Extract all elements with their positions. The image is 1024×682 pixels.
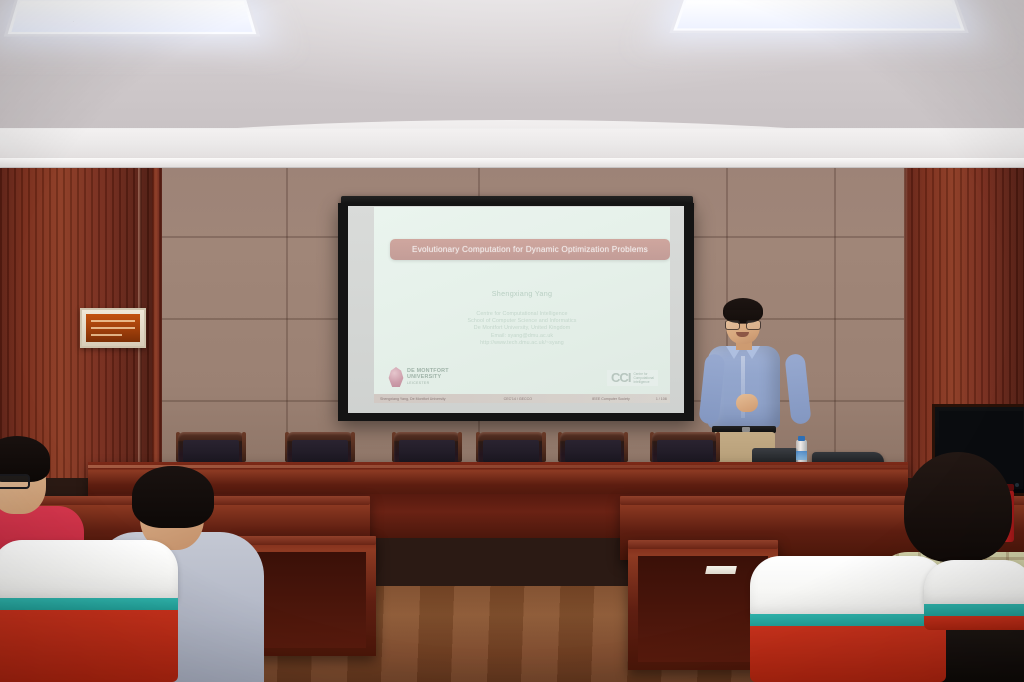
document-sheet [705, 566, 737, 574]
slide-author: Shengxiang Yang [374, 289, 670, 298]
slide-affiliation-email: Email: syang@dmu.ac.uk [374, 333, 670, 340]
wall-sign-plaque [80, 308, 146, 348]
chair-cover-far-right [924, 560, 1024, 630]
slide-footer-page: 1 / 108 [656, 397, 667, 401]
presentation-slide: Evolutionary Computation for Dynamic Opt… [374, 207, 670, 403]
dmu-logo: DE MONTFORT UNIVERSITY LEICESTER [388, 367, 449, 387]
chair-cover-right [750, 556, 946, 682]
slide-footer-middle: CEC'14 / GECCO [504, 397, 532, 401]
ceiling-light-panel-left [4, 0, 260, 36]
audience-plaid-jacket-hair [904, 452, 1012, 562]
slide-affiliation-url: http://www.tech.dmu.ac.uk/~syang [374, 340, 670, 347]
presenter-hands [736, 394, 758, 412]
cci-logo: CCI Centre for Computational Intelligenc… [607, 370, 658, 386]
audience-glasses-icon [0, 474, 30, 489]
slide-affiliation-line-3: De Montfort University, United Kingdom [374, 325, 670, 332]
audience-gray-shirt-hair [132, 466, 214, 528]
dmu-logo-line-3: LEICESTER [407, 380, 449, 386]
slide-affiliation-block: Centre for Computational Intelligence Sc… [374, 311, 670, 347]
cci-logo-line-3: Intelligence [633, 380, 654, 384]
ceiling-light-panel-right [669, 0, 968, 33]
bottle-label [796, 451, 807, 460]
slide-affiliation-line-2: School of Computer Science and Informati… [374, 318, 670, 325]
glasses-icon [725, 320, 761, 328]
slide-footer-right: IEEE Computer Society [592, 397, 630, 401]
conference-room-photo: Evolutionary Computation for Dynamic Opt… [0, 0, 1024, 682]
slide-affiliation-line-1: Centre for Computational Intelligence [374, 311, 670, 318]
slide-footer-left: Shengxiang Yang, De Montfort University [380, 397, 446, 401]
slide-footer: Shengxiang Yang, De Montfort University … [374, 394, 670, 403]
slide-title-bar: Evolutionary Computation for Dynamic Opt… [390, 239, 670, 260]
wall-sign-face [86, 314, 140, 342]
presenter-arm-right [784, 353, 811, 425]
ceiling-soffit-lip [0, 158, 1024, 167]
bottle-cap [798, 436, 805, 441]
slide-title: Evolutionary Computation for Dynamic Opt… [398, 244, 662, 255]
dmu-crest-icon [388, 367, 404, 387]
cci-mark-text: CCI [611, 372, 630, 384]
chair-cover-left [0, 540, 178, 682]
